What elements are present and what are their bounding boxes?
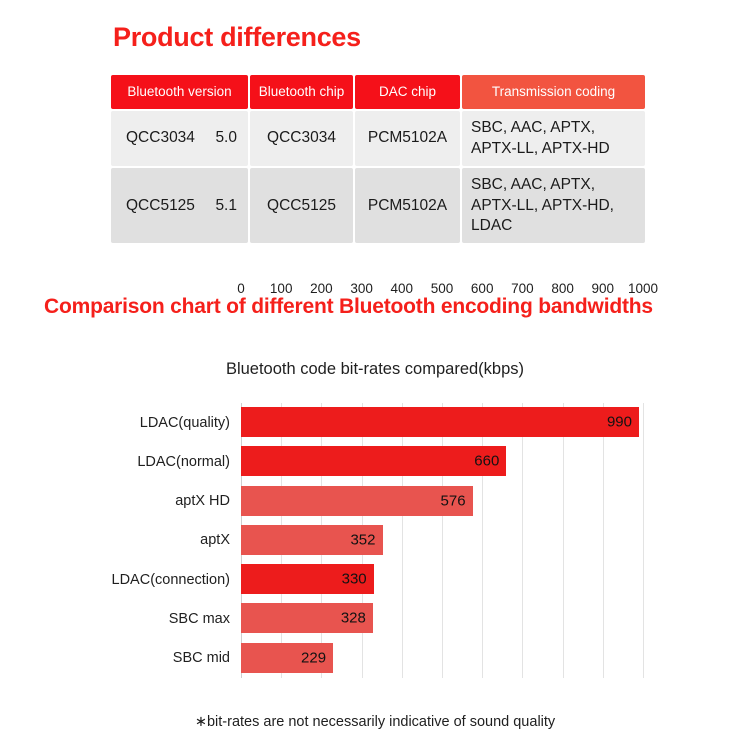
bar-category-label: aptX HD	[175, 493, 230, 509]
bar-category-label: LDAC(quality)	[140, 415, 230, 431]
chip-model-value: QCC3034	[126, 128, 195, 148]
x-axis-tick: 700	[511, 281, 534, 296]
bar-row: LDAC(connection)330	[241, 560, 643, 599]
bar: 330	[241, 564, 374, 594]
x-axis-tick: 300	[350, 281, 373, 296]
bar-value-label: 352	[350, 531, 375, 548]
bar-category-label: LDAC(connection)	[112, 572, 230, 588]
column-header-bluetooth-chip: Bluetooth chip	[250, 75, 353, 109]
cell-bluetooth-chip: QCC5125	[250, 168, 353, 243]
chart-title: Bluetooth code bit-rates compared(kbps)	[0, 360, 750, 379]
cell-bluetooth-chip: QCC3034	[250, 111, 353, 166]
cell-dac-chip: PCM5102A	[355, 168, 460, 243]
bar-row: aptX352	[241, 521, 643, 560]
x-axis-tick: 900	[592, 281, 615, 296]
bar: 990	[241, 407, 639, 437]
bar-value-label: 328	[341, 610, 366, 627]
table-header-row: Bluetooth version Bluetooth chip DAC chi…	[111, 75, 645, 109]
table-row: QCC3034 5.0 QCC3034 PCM5102A SBC, AAC, A…	[111, 111, 645, 166]
bar-value-label: 990	[607, 414, 632, 431]
bar: 352	[241, 525, 383, 555]
bar-row: LDAC(quality)990	[241, 403, 643, 442]
bar-row: aptX HD576	[241, 482, 643, 521]
x-axis-tick: 800	[551, 281, 574, 296]
chart-x-axis: 01002003004005006007008009001000	[241, 281, 643, 301]
bar: 576	[241, 486, 473, 516]
table-row: QCC5125 5.1 QCC5125 PCM5102A SBC, AAC, A…	[111, 168, 645, 243]
cell-transmission-coding: SBC, AAC, APTX, APTX-LL, APTX-HD	[462, 111, 645, 166]
bt-version-value: 5.0	[215, 128, 237, 148]
bar-value-label: 229	[301, 649, 326, 666]
bar-category-label: SBC max	[169, 611, 230, 627]
bar-category-label: aptX	[200, 532, 230, 548]
x-axis-tick: 200	[310, 281, 333, 296]
column-header-dac-chip: DAC chip	[355, 75, 460, 109]
gridline	[643, 403, 644, 678]
bar-value-label: 330	[342, 571, 367, 588]
product-differences-table: Bluetooth version Bluetooth chip DAC chi…	[109, 73, 647, 245]
cell-bluetooth-version: QCC3034 5.0	[111, 111, 248, 166]
bar-row: SBC mid229	[241, 639, 643, 678]
bar-row: SBC max328	[241, 599, 643, 638]
x-axis-tick: 600	[471, 281, 494, 296]
chart-footnote: ∗bit-rates are not necessarily indicativ…	[0, 714, 750, 730]
column-header-transmission-coding: Transmission coding	[462, 75, 645, 109]
bar-value-label: 576	[441, 492, 466, 509]
cell-dac-chip: PCM5102A	[355, 111, 460, 166]
bar: 660	[241, 446, 506, 476]
x-axis-tick: 100	[270, 281, 293, 296]
bar-category-label: LDAC(normal)	[137, 454, 230, 470]
column-header-bluetooth-version: Bluetooth version	[111, 75, 248, 109]
x-axis-tick: 0	[237, 281, 245, 296]
bar-row: LDAC(normal)660	[241, 442, 643, 481]
bar-value-label: 660	[474, 453, 499, 470]
chart-plot-area: LDAC(quality)990LDAC(normal)660aptX HD57…	[241, 403, 643, 678]
bar: 328	[241, 603, 373, 633]
chip-model-value: QCC5125	[126, 196, 195, 216]
bar-category-label: SBC mid	[173, 650, 230, 666]
x-axis-tick: 500	[431, 281, 454, 296]
cell-transmission-coding: SBC, AAC, APTX, APTX-LL, APTX-HD, LDAC	[462, 168, 645, 243]
page-title: Product differences	[113, 22, 361, 53]
bitrate-bar-chart: LDAC(quality)990LDAC(normal)660aptX HD57…	[0, 403, 750, 693]
x-axis-tick: 1000	[628, 281, 658, 296]
x-axis-tick: 400	[391, 281, 414, 296]
cell-bluetooth-version: QCC5125 5.1	[111, 168, 248, 243]
bar: 229	[241, 643, 333, 673]
bt-version-value: 5.1	[215, 196, 237, 216]
